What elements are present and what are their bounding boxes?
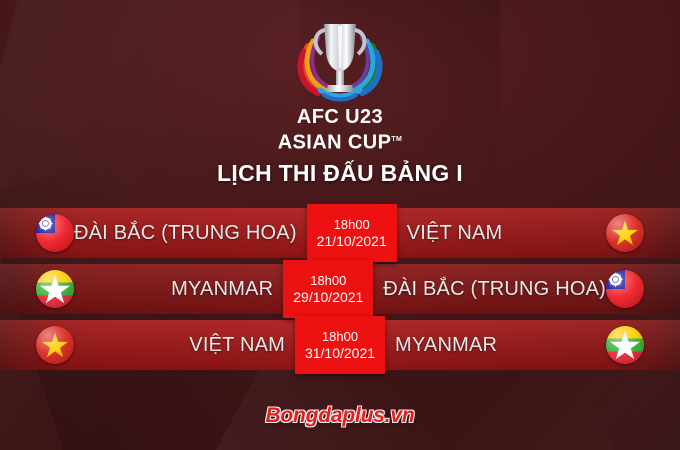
- match-date: 21/10/2021: [317, 233, 387, 249]
- away-team-name: VIỆT NAM: [397, 222, 606, 245]
- away-team-name: ĐÀI BẮC (TRUNG HOA): [373, 278, 606, 301]
- kickoff-time: 18h00: [310, 273, 346, 289]
- home-team-name: VIỆT NAM: [74, 334, 295, 357]
- tournament-logo: AFC U23 ASIAN CUPTM: [0, 16, 680, 153]
- site-watermark: Bongdaplus.vn: [0, 404, 680, 428]
- away-team-name: MYANMAR: [385, 334, 606, 357]
- match-date: 31/10/2021: [305, 345, 375, 361]
- flag-vietnam-icon: [36, 326, 74, 364]
- kickoff-time: 18h00: [322, 329, 358, 345]
- table-row[interactable]: VIỆT NAM 18h00 31/10/2021 MYANMAR: [0, 320, 680, 370]
- match-date: 29/10/2021: [293, 289, 363, 305]
- kickoff-time: 18h00: [334, 217, 370, 233]
- logo-line-2-text: ASIAN CUP: [278, 132, 392, 154]
- flag-myanmar-icon: [606, 326, 644, 364]
- match-schedule-poster: AFC U23 ASIAN CUPTM LỊCH THI ĐẤU BẢNG I: [0, 0, 680, 450]
- home-team-name: ĐÀI BẮC (TRUNG HOA): [74, 222, 307, 245]
- afc-trophy-icon: [280, 16, 400, 104]
- table-row[interactable]: MYANMAR 18h00 29/10/2021 ĐÀI BẮC (TRUNG …: [0, 264, 680, 314]
- match-list: ĐÀI BẮC (TRUNG HOA) 18h00 21/10/2021 VIỆ…: [0, 208, 680, 376]
- home-team-name: MYANMAR: [74, 278, 283, 301]
- flag-chinese-taipei-icon: [36, 214, 74, 252]
- match-time-badge: 18h00 31/10/2021: [295, 316, 385, 374]
- table-row[interactable]: ĐÀI BẮC (TRUNG HOA) 18h00 21/10/2021 VIỆ…: [0, 208, 680, 258]
- logo-line-1: AFC U23: [0, 107, 680, 127]
- trademark-mark: TM: [391, 136, 402, 143]
- match-time-badge: 18h00 21/10/2021: [307, 204, 397, 262]
- flag-vietnam-icon: [606, 214, 644, 252]
- match-time-badge: 18h00 29/10/2021: [283, 260, 373, 318]
- flag-myanmar-icon: [36, 270, 74, 308]
- page-title: LỊCH THI ĐẤU BẢNG I: [0, 160, 680, 187]
- flag-chinese-taipei-icon: [606, 270, 644, 308]
- logo-line-2: ASIAN CUPTM: [0, 130, 680, 153]
